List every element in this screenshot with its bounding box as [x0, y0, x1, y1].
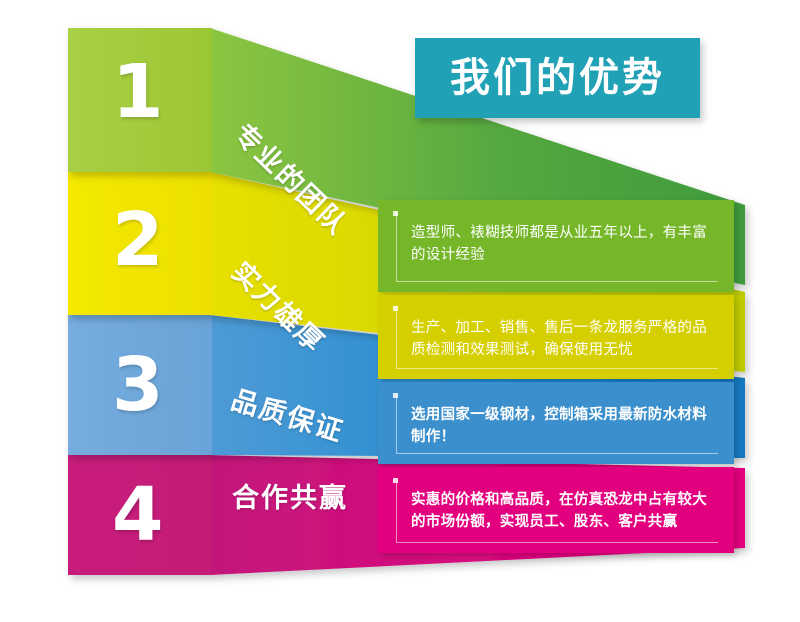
description-panel-1: 造型师、裱糊技师都是从业五年以上，有丰富的设计经验 [378, 200, 734, 292]
page-title: 我们的优势 [450, 58, 665, 98]
description-panel-4: 实惠的价格和高品质，在仿真恐龙中占有较大的市场份额，实现员工、股东、客户共赢 [378, 467, 734, 553]
description-text-1: 造型师、裱糊技师都是从业五年以上，有丰富的设计经验 [411, 222, 719, 267]
description-panel-2: 生产、加工、销售、售后一条龙服务严格的品质检测和效果测试，确保使用无忧 [378, 295, 734, 379]
page-title-banner: 我们的优势 [415, 38, 700, 118]
infographic-canvas: 1 2 3 4 专业的团队 实力雄厚 品质保证 合作共赢 我们的优势 造型师、裱… [0, 0, 800, 622]
description-panel-3: 选用国家一级钢材，控制箱采用最新防水材料制作！ [378, 382, 734, 464]
description-text-4: 实惠的价格和高品质，在仿真恐龙中占有较大的市场份额，实现员工、股东、客户共赢 [411, 489, 719, 534]
description-text-3: 选用国家一级钢材，控制箱采用最新防水材料制作！ [411, 404, 719, 449]
description-text-2: 生产、加工、销售、售后一条龙服务严格的品质检测和效果测试，确保使用无忧 [411, 317, 719, 362]
